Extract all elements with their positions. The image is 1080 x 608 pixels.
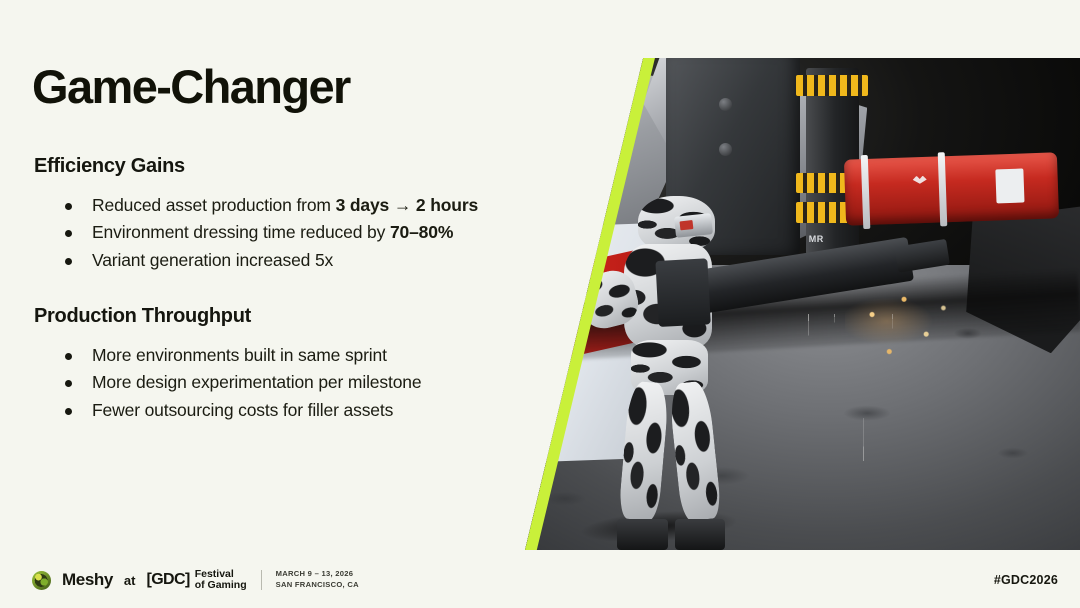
artwork-soldier-boot (617, 519, 667, 550)
bullet-text: More design experimentation per mileston… (92, 372, 421, 392)
list-item: More environments built in same sprint (32, 342, 502, 370)
artwork-cannon-ring (937, 153, 947, 228)
list-item: Reduced asset production from 3 days → 2… (32, 192, 502, 220)
artwork-hazard-band (796, 75, 868, 96)
meshy-logo-icon (32, 571, 51, 590)
list-item: Variant generation increased 5x (32, 247, 502, 275)
artwork-cannon-plate (995, 168, 1024, 203)
bullet-dot-icon (65, 380, 72, 387)
gdc-lockup: [GDC] Festival of Gaming (146, 569, 246, 593)
bullet-emphasis: 3 days → 2 hours (336, 195, 479, 215)
bullet-dot-icon (65, 258, 72, 265)
list-item: Fewer outsourcing costs for filler asset… (32, 397, 502, 425)
bullet-text: More environments built in same sprint (92, 345, 387, 365)
event-dates: MARCH 9 – 13, 2026 (276, 569, 359, 580)
artwork-image: MR (520, 58, 1080, 550)
list-item: Environment dressing time reduced by 70–… (32, 219, 502, 247)
bullet-text: Fewer outsourcing costs for filler asset… (92, 400, 393, 420)
section-heading: Efficiency Gains (34, 155, 502, 178)
bullet-text: Variant generation increased 5x (92, 250, 333, 270)
event-name: Festival of Gaming (195, 569, 247, 593)
artwork-bolt (719, 98, 732, 111)
gdc-logo-icon: [GDC] (146, 571, 189, 589)
artwork-debris-streaks (800, 314, 946, 462)
bullet-text: Environment dressing time reduced by (92, 222, 390, 242)
event-meta: MARCH 9 – 13, 2026 SAN FRANCISCO, CA (276, 569, 359, 591)
slide-content: Game-Changer Efficiency Gains Reduced as… (32, 62, 502, 455)
bullet-dot-icon (65, 353, 72, 360)
brand-name: Meshy (62, 570, 113, 590)
artwork-soldier-leg (618, 380, 670, 521)
artwork-cannon-ring (861, 155, 871, 230)
bullet-list: Reduced asset production from 3 days → 2… (32, 192, 502, 275)
slide: Game-Changer Efficiency Gains Reduced as… (0, 0, 1080, 608)
artwork-red-cannon (844, 153, 1059, 227)
artwork-bolt (719, 143, 732, 156)
artwork-soldier-leg (667, 380, 721, 521)
bullet-dot-icon (65, 203, 72, 210)
footer-conjunction: at (124, 573, 136, 588)
list-item: More design experimentation per mileston… (32, 369, 502, 397)
bullet-dot-icon (65, 408, 72, 415)
artwork-soldier-visor (674, 213, 713, 237)
section-production-throughput: Production Throughput More environments … (32, 305, 502, 425)
bullet-list: More environments built in same sprint M… (32, 342, 502, 425)
artwork-soldier-boot (675, 519, 725, 550)
event-hashtag: #GDC2026 (994, 573, 1058, 587)
artwork-rifle-stock (655, 258, 710, 327)
section-efficiency-gains: Efficiency Gains Reduced asset productio… (32, 155, 502, 275)
bullet-dot-icon (65, 230, 72, 237)
footer-divider (261, 570, 262, 590)
artwork-cannon-emblem-icon (912, 176, 926, 184)
artwork-machine-label: MR (809, 234, 824, 244)
footer: Meshy at [GDC] Festival of Gaming MARCH … (32, 569, 359, 593)
bullet-emphasis: 70–80% (390, 222, 453, 242)
slide-artwork: MR (520, 58, 1080, 550)
artwork-soldier (587, 196, 755, 540)
bullet-text: Reduced asset production from (92, 195, 336, 215)
page-title: Game-Changer (32, 62, 502, 113)
event-name-line2: of Gaming (195, 580, 247, 592)
event-location: SAN FRANCISCO, CA (276, 580, 359, 591)
section-heading: Production Throughput (34, 305, 502, 328)
